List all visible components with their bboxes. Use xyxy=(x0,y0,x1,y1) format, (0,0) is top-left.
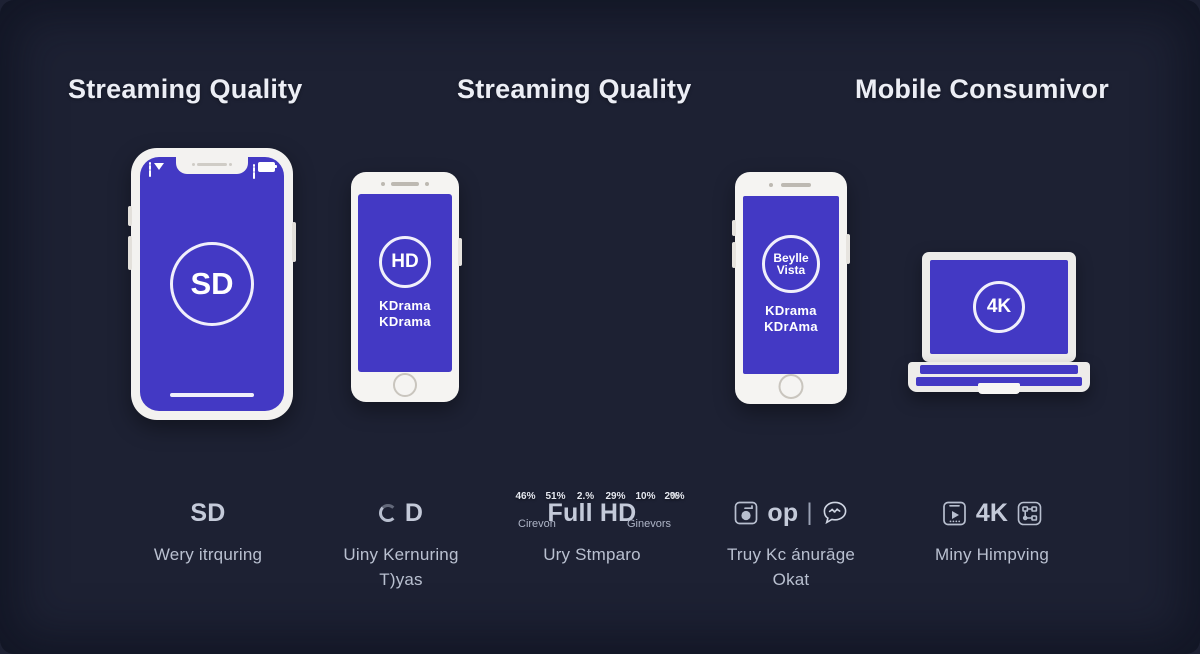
caption-title-row: Full HD xyxy=(477,492,707,534)
caption-subtitle: Ury Stmparo xyxy=(477,543,707,568)
sensor-dot-icon xyxy=(425,182,429,186)
quality-badge-sd: SD xyxy=(170,242,254,326)
divider: | xyxy=(806,499,812,527)
device-phone-home-beylle-vista[interactable]: Beylle Vista KDrama KDrAma xyxy=(735,172,847,404)
caption-subtitle-line-1: Miny Himpving xyxy=(935,545,1049,564)
home-indicator[interactable] xyxy=(170,393,254,397)
caption-title: D xyxy=(405,499,423,528)
camera-dot-icon xyxy=(769,183,773,187)
camera-dot-icon xyxy=(192,163,195,166)
headings-row: Streaming Quality Streaming Quality Mobi… xyxy=(0,66,1200,112)
caption-subtitle-line-1: Truy Kc ánurāge xyxy=(727,545,855,564)
home-button[interactable] xyxy=(393,373,417,397)
caption-block-4k: 4K Miny Himpving xyxy=(877,492,1107,568)
speaker-grille-icon xyxy=(391,182,419,186)
quality-badge-beylle-vista: Beylle Vista xyxy=(762,235,820,293)
sensor-dot-icon xyxy=(229,163,232,166)
caption-title-row: op | xyxy=(676,492,906,534)
node-graph-icon[interactable] xyxy=(1016,500,1043,527)
quality-badge-hd: HD xyxy=(379,236,431,288)
screen-caption-line-1: KDrama xyxy=(765,303,817,318)
screen-caption-line-2: KDrAma xyxy=(764,319,818,334)
camera-dot-icon xyxy=(381,182,385,186)
caption-title: Full HD xyxy=(548,499,637,528)
screen-content: SD xyxy=(140,157,284,411)
keyboard-icon xyxy=(920,365,1078,374)
caption-title: 4K xyxy=(976,499,1008,528)
caption-title: SD xyxy=(190,499,225,528)
phone-screen: SD xyxy=(140,157,284,411)
infographic-canvas: Streaming Quality Streaming Quality Mobi… xyxy=(0,0,1200,654)
caption-subtitle: Miny Himpving xyxy=(877,543,1107,568)
arc-icon xyxy=(379,504,397,522)
caption-subtitle-line-1: Wery itrquring xyxy=(154,545,262,564)
chat-bubble-icon[interactable] xyxy=(821,499,849,527)
screen-content: Beylle Vista KDrama KDrAma xyxy=(743,196,839,374)
heading-streaming-quality-mid: Streaming Quality xyxy=(457,74,691,105)
caption-subtitle-line-1: Uiny Kernuring xyxy=(343,545,458,564)
caption-subtitle: Truy Kc ánurāge Okat xyxy=(676,543,906,592)
captions-row: SD Wery itrquring D Uiny Kernuring T)yas… xyxy=(0,492,1200,627)
speaker-grille-icon xyxy=(781,183,811,187)
laptop-screen: 4K xyxy=(930,260,1068,354)
caption-subtitle-line-1: Ury Stmparo xyxy=(543,545,641,564)
screen-caption-line-2: KDrama xyxy=(379,314,431,329)
screen-caption-line-1: KDrama xyxy=(379,298,431,313)
laptop-base xyxy=(908,362,1090,392)
caption-subtitle-line-2: T)yas xyxy=(286,568,516,593)
notch xyxy=(176,157,248,174)
play-video-icon[interactable] xyxy=(941,500,968,527)
device-phone-home-hd[interactable]: HD KDrama KDrama xyxy=(351,172,459,402)
quality-badge-4k: 4K xyxy=(973,281,1025,333)
speaker-grille-icon xyxy=(197,163,227,166)
trackpad xyxy=(978,383,1020,394)
badge-line-2: Vista xyxy=(777,264,805,276)
camera-icon[interactable] xyxy=(733,500,759,526)
caption-title-row: 4K xyxy=(877,492,1107,534)
devices-band: SD HD KDrama KDrama xyxy=(0,130,1200,430)
phone-power-button xyxy=(458,238,462,266)
caption-title: op xyxy=(767,499,798,528)
phone-screen: Beylle Vista KDrama KDrAma xyxy=(743,196,839,374)
heading-streaming-quality-left: Streaming Quality xyxy=(68,74,302,105)
phone-screen: HD KDrama KDrama xyxy=(358,194,452,372)
signal-icon xyxy=(149,162,151,170)
phone-volume-button xyxy=(128,236,132,270)
phone-power-button xyxy=(846,234,850,264)
laptop-lid: 4K xyxy=(922,252,1076,362)
status-bar-right xyxy=(253,162,275,172)
phone-volume-button xyxy=(732,242,736,268)
phone-side-button xyxy=(732,220,736,236)
screen-content: 4K xyxy=(930,260,1068,354)
screen-caption: KDrama KDrama xyxy=(379,298,431,330)
chart-plot-area: 46% 51% 2.% 29% 10% xyxy=(510,290,685,502)
screen-content: HD KDrama KDrama xyxy=(358,194,452,372)
caption-block-op: op | Truy Kc ánurāge Okat xyxy=(676,492,906,592)
caption-block-full-hd: Full HD Ury Stmparo xyxy=(477,492,707,568)
home-button[interactable] xyxy=(779,374,804,399)
status-bar-left xyxy=(149,162,164,170)
battery-icon xyxy=(258,162,275,172)
device-laptop-4k[interactable]: 4K xyxy=(908,252,1090,412)
signal-icon xyxy=(253,164,255,172)
phone-power-button xyxy=(292,222,296,262)
caption-subtitle-line-2: Okat xyxy=(676,568,906,593)
screen-caption: KDrama KDrAma xyxy=(764,303,818,335)
phone-side-button xyxy=(128,206,132,226)
wifi-icon xyxy=(154,163,164,170)
device-phone-notch-sd[interactable]: SD xyxy=(131,148,293,420)
heading-mobile-consumivor: Mobile Consumivor xyxy=(855,74,1109,105)
